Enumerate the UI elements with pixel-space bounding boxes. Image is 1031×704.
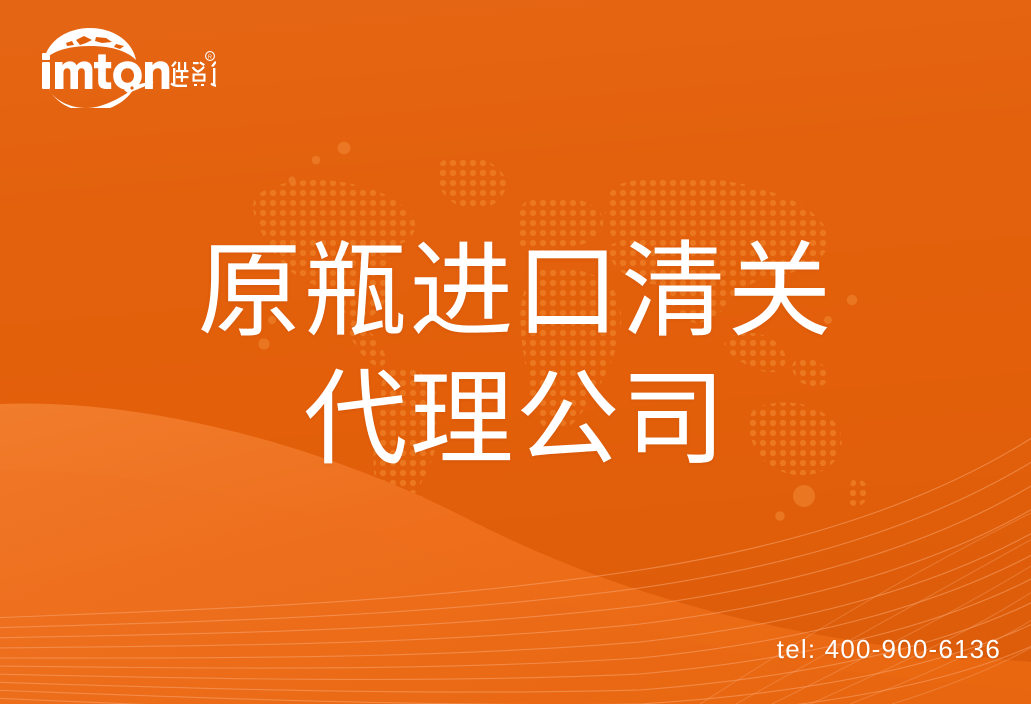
logo-wordmark <box>42 53 169 90</box>
svg-text:R: R <box>208 55 212 61</box>
headline-line-2: 代理公司 <box>0 356 1031 484</box>
globe-arc-icon <box>44 28 136 60</box>
contact-phone[interactable]: tel: 400-900-6136 <box>777 634 1001 664</box>
promo-banner: R 原瓶进口清关 代理公司 tel: 400-900-6136 <box>0 0 1031 704</box>
trademark-icon: R <box>206 52 215 61</box>
brand-logo[interactable]: R <box>38 26 216 108</box>
page-title: 原瓶进口清关 代理公司 <box>0 228 1031 484</box>
headline-line-1: 原瓶进口清关 <box>0 228 1031 356</box>
logo-chinese-text <box>170 61 216 87</box>
